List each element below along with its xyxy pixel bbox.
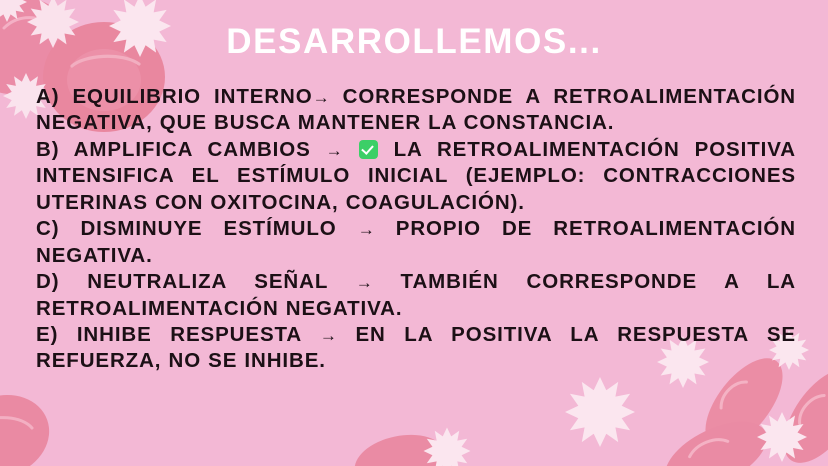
answer-item-d: D) NEUTRALIZA SEÑAL → TAMBIÉN CORRESPOND… xyxy=(36,269,796,322)
slide-body: A) EQUILIBRIO INTERNO→ CORRESPONDE A RET… xyxy=(36,84,796,375)
answer-a-lead: A) EQUILIBRIO INTERNO xyxy=(36,85,313,108)
slide-canvas: DESARROLLEMOS... A) EQUILIBRIO INTERNO→ … xyxy=(0,0,828,466)
arrow-icon-e: → xyxy=(320,326,337,345)
answer-item-c: C) DISMINUYE ESTÍMULO → PROPIO DE RETROA… xyxy=(36,216,796,269)
spike-bottom-center xyxy=(424,428,471,466)
arrow-icon-a: → xyxy=(313,88,330,107)
arrow-icon-c: → xyxy=(358,220,375,239)
slide-title-container: DESARROLLEMOS... xyxy=(0,24,828,61)
white-heavy-check-mark-icon xyxy=(359,140,378,159)
blood-cell-bottom-center xyxy=(350,427,451,466)
spike-top-left-corner xyxy=(0,0,27,22)
arrow-icon-d: → xyxy=(356,273,373,292)
answer-e-lead: E) INHIBE RESPUESTA xyxy=(36,323,301,346)
answer-d-lead: D) NEUTRALIZA SEÑAL xyxy=(36,270,328,293)
slide-title: DESARROLLEMOS... xyxy=(226,24,602,61)
spike-bottom-right-c xyxy=(757,412,807,462)
spike-bottom-right-b xyxy=(565,377,635,447)
arrow-icon-b: → xyxy=(326,141,343,160)
blood-cell-bottom-left xyxy=(0,382,61,466)
answer-item-b: B) AMPLIFICA CAMBIOS → LA RETROALIMENTAC… xyxy=(36,137,796,216)
answer-c-lead: C) DISMINUYE ESTÍMULO xyxy=(36,217,337,240)
answer-item-a: A) EQUILIBRIO INTERNO→ CORRESPONDE A RET… xyxy=(36,84,796,137)
blood-cell-bottom-right-c xyxy=(655,408,778,466)
answer-b-lead: B) AMPLIFICA CAMBIOS xyxy=(36,138,311,161)
answer-item-e: E) INHIBE RESPUESTA → EN LA POSITIVA LA … xyxy=(36,322,796,375)
